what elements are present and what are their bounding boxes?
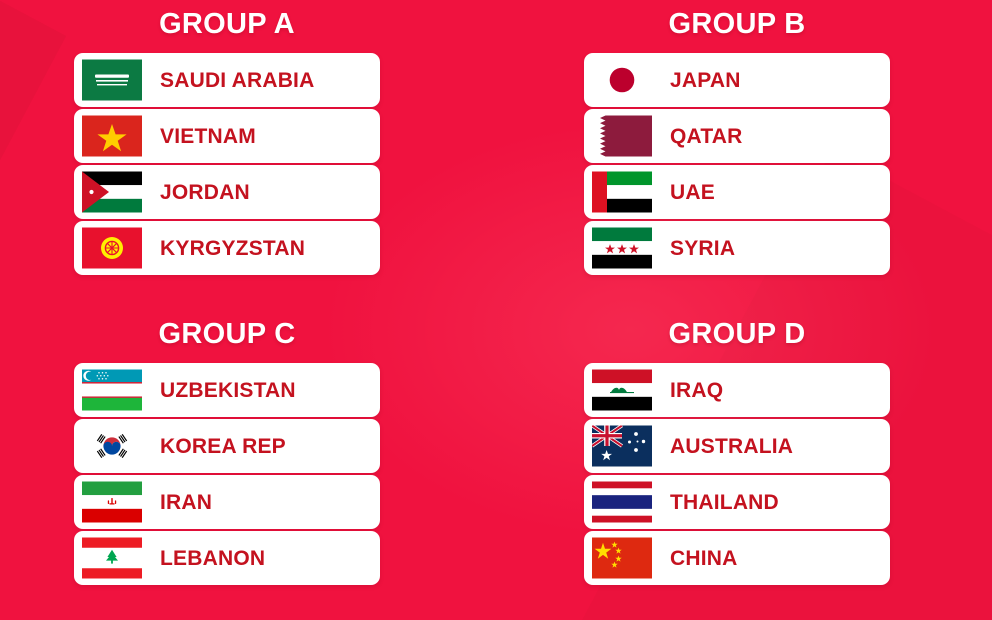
team-card[interactable]: IRAQ xyxy=(584,363,890,417)
group-title-c: GROUP C xyxy=(74,318,380,351)
team-list-a: SAUDI ARABIA VIETNAM JORDAN KYRGYZSTAN xyxy=(74,53,380,275)
team-card[interactable]: SYRIA xyxy=(584,221,890,275)
team-card[interactable]: KYRGYZSTAN xyxy=(74,221,380,275)
team-card[interactable]: SAUDI ARABIA xyxy=(74,53,380,107)
team-name: QATAR xyxy=(670,126,743,147)
group-panel-c: GROUP C UZBEKISTAN KOREA REP IRAN xyxy=(0,310,496,620)
team-name: IRAQ xyxy=(670,380,723,401)
team-card[interactable]: KOREA REP xyxy=(74,419,380,473)
group-title-a: GROUP A xyxy=(74,8,380,41)
team-name: LEBANON xyxy=(160,548,265,569)
team-card[interactable]: IRAN xyxy=(74,475,380,529)
flag-iran-icon xyxy=(82,482,142,523)
team-list-d: IRAQ AUSTRALIA THAILAND CHINA xyxy=(584,363,890,585)
flag-uzbekistan-icon xyxy=(82,370,142,411)
group-panel-b: GROUP B JAPAN QATAR UAE xyxy=(496,0,992,310)
flag-qatar-icon xyxy=(592,116,652,157)
team-name: UAE xyxy=(670,182,715,203)
flag-jordan-icon xyxy=(82,172,142,213)
group-title-b: GROUP B xyxy=(584,8,890,41)
flag-lebanon-icon xyxy=(82,538,142,579)
team-card[interactable]: CHINA xyxy=(584,531,890,585)
group-panel-d: GROUP D IRAQ AUSTRALIA THAILAND xyxy=(496,310,992,620)
team-card[interactable]: JORDAN xyxy=(74,165,380,219)
flag-vietnam-icon xyxy=(82,116,142,157)
group-draw-board: GROUP A SAUDI ARABIA VIETNAM JORDAN xyxy=(0,0,992,620)
flag-saudi-arabia-icon xyxy=(82,60,142,101)
team-name: KOREA REP xyxy=(160,436,286,457)
flag-south-korea-icon xyxy=(82,426,142,467)
flag-australia-icon xyxy=(592,426,652,467)
team-name: KYRGYZSTAN xyxy=(160,238,305,259)
team-list-b: JAPAN QATAR UAE SYRIA xyxy=(584,53,890,275)
flag-iraq-icon xyxy=(592,370,652,411)
flag-thailand-icon xyxy=(592,482,652,523)
team-card[interactable]: AUSTRALIA xyxy=(584,419,890,473)
team-card[interactable]: UAE xyxy=(584,165,890,219)
team-name: UZBEKISTAN xyxy=(160,380,296,401)
team-card[interactable]: VIETNAM xyxy=(74,109,380,163)
team-name: JAPAN xyxy=(670,70,741,91)
flag-uae-icon xyxy=(592,172,652,213)
flag-japan-icon xyxy=(592,60,652,101)
team-card[interactable]: JAPAN xyxy=(584,53,890,107)
team-name: VIETNAM xyxy=(160,126,256,147)
team-name: SYRIA xyxy=(670,238,735,259)
team-name: JORDAN xyxy=(160,182,250,203)
team-card[interactable]: LEBANON xyxy=(74,531,380,585)
team-card[interactable]: UZBEKISTAN xyxy=(74,363,380,417)
group-panel-a: GROUP A SAUDI ARABIA VIETNAM JORDAN xyxy=(0,0,496,310)
team-name: THAILAND xyxy=(670,492,779,513)
team-name: SAUDI ARABIA xyxy=(160,70,314,91)
group-title-d: GROUP D xyxy=(584,318,890,351)
team-card[interactable]: THAILAND xyxy=(584,475,890,529)
team-name: AUSTRALIA xyxy=(670,436,793,457)
flag-syria-icon xyxy=(592,228,652,269)
team-list-c: UZBEKISTAN KOREA REP IRAN LEBANON xyxy=(74,363,380,585)
team-name: IRAN xyxy=(160,492,212,513)
flag-kyrgyzstan-icon xyxy=(82,228,142,269)
team-card[interactable]: QATAR xyxy=(584,109,890,163)
flag-china-icon xyxy=(592,538,652,579)
team-name: CHINA xyxy=(670,548,738,569)
